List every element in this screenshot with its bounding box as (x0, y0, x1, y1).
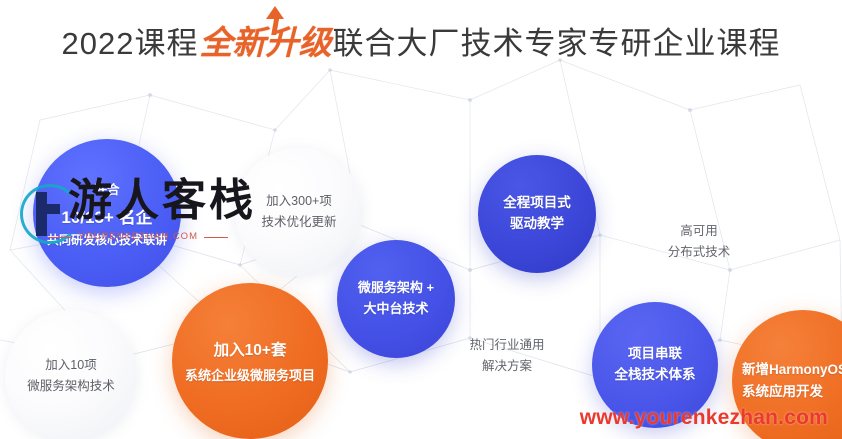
bubble-micro-10[interactable]: 加入10项 微服务架构技术 (5, 310, 137, 439)
bubble-high-availability[interactable]: 高可用 分布式技术 (643, 186, 755, 298)
watermark-url-bottom: www.yourenkezhan.com (580, 406, 828, 430)
bubble-optimize-300-line-2: 技术优化更新 (261, 212, 336, 234)
title-prefix: 2022课程 (62, 28, 199, 59)
bubble-ten-systems-line-2: 系统企业级微服务项目 (185, 365, 315, 384)
poster-canvas: 2022课程全新升级联合大厂技术专家专研企业课程 联合 10/13+ 名企 共同… (0, 0, 842, 439)
bubble-hot-industry[interactable]: 热门行业通用 解决方案 (451, 300, 563, 412)
bubble-project-driven[interactable]: 全程项目式 驱动教学 (478, 155, 596, 273)
bubble-union[interactable]: 联合 10/13+ 名企 共同研发核心技术联讲 (33, 139, 181, 287)
bubble-optimize-300-line-1: 加入300+项 (266, 191, 332, 213)
bubble-ten-systems-line-1: 加入10+套 (214, 338, 287, 360)
bubble-union-line-3: 共同研发核心技术联讲 (47, 231, 167, 248)
title-accent-text: 全新升级 (199, 24, 331, 61)
bubble-micro-10-line-1: 加入10项 (45, 355, 96, 377)
bubble-union-line-1: 联合 (94, 179, 119, 198)
bubble-high-availability-line-2: 分布式技术 (668, 242, 731, 264)
bubble-micro-10-line-2: 微服务架构技术 (27, 376, 115, 398)
title-accent: 全新升级 (199, 26, 331, 59)
bubble-project-driven-line-2: 驱动教学 (510, 214, 564, 235)
bubble-hot-industry-line-1: 热门行业通用 (469, 335, 544, 357)
bubble-fullstack-chain-line-2: 全栈技术体系 (615, 365, 696, 386)
bubble-optimize-300[interactable]: 加入300+项 技术优化更新 (235, 148, 363, 276)
bubble-microservice-arch[interactable]: 微服务架构 + 大中台技术 (337, 240, 455, 358)
bubble-union-line-2: 10/13+ 名企 (61, 203, 152, 228)
bubble-project-driven-line-1: 全程项目式 (503, 193, 571, 214)
bubble-microservice-arch-line-1: 微服务架构 + (358, 278, 434, 299)
bubble-ten-systems[interactable]: 加入10+套 系统企业级微服务项目 (172, 283, 328, 439)
title-suffix: 联合大厂技术专家专研企业课程 (332, 28, 780, 59)
bubble-fullstack-chain-line-1: 项目串联 (628, 344, 682, 365)
bubble-harmonyos-line-2: 系统应用开发 (742, 381, 823, 403)
bubble-microservice-arch-line-2: 大中台技术 (363, 299, 428, 320)
page-title: 2022课程全新升级联合大厂技术专家专研企业课程 (0, 26, 842, 59)
bubble-high-availability-line-1: 高可用 (680, 221, 718, 243)
bubble-hot-industry-line-2: 解决方案 (482, 356, 532, 378)
bubble-harmonyos-line-1: 新增HarmonyOS (742, 359, 842, 381)
